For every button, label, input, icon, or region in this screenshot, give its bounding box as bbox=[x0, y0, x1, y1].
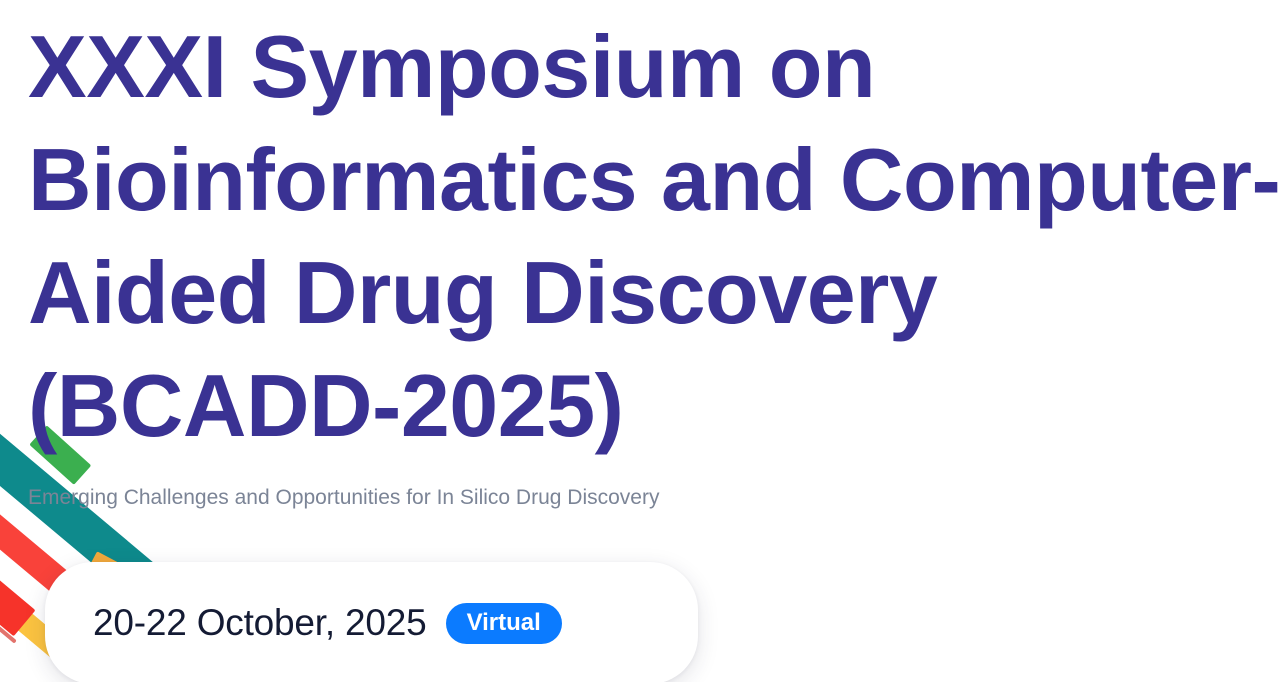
salmon-stripe bbox=[0, 518, 17, 643]
page-title-line-3: Aided Drug Discovery bbox=[28, 236, 1286, 349]
red-stripe-2 bbox=[0, 546, 36, 636]
page-title-line-2: Bioinformatics and Computer- bbox=[28, 123, 1286, 236]
page-subtitle: Emerging Challenges and Opportunities fo… bbox=[28, 462, 1286, 512]
page-title-line-1: XXXI Symposium on bbox=[28, 10, 1286, 123]
event-date-card: 20-22 October, 2025 Virtual bbox=[45, 562, 698, 682]
virtual-format-badge[interactable]: Virtual bbox=[446, 603, 562, 644]
conference-hero-banner: XXXI Symposium on Bioinformatics and Com… bbox=[0, 0, 1286, 682]
heading-block: XXXI Symposium on Bioinformatics and Com… bbox=[28, 10, 1286, 512]
page-title: XXXI Symposium on Bioinformatics and Com… bbox=[28, 10, 1286, 462]
page-title-line-4: (BCADD-2025) bbox=[28, 349, 1286, 462]
event-date-text: 20-22 October, 2025 bbox=[93, 602, 427, 644]
